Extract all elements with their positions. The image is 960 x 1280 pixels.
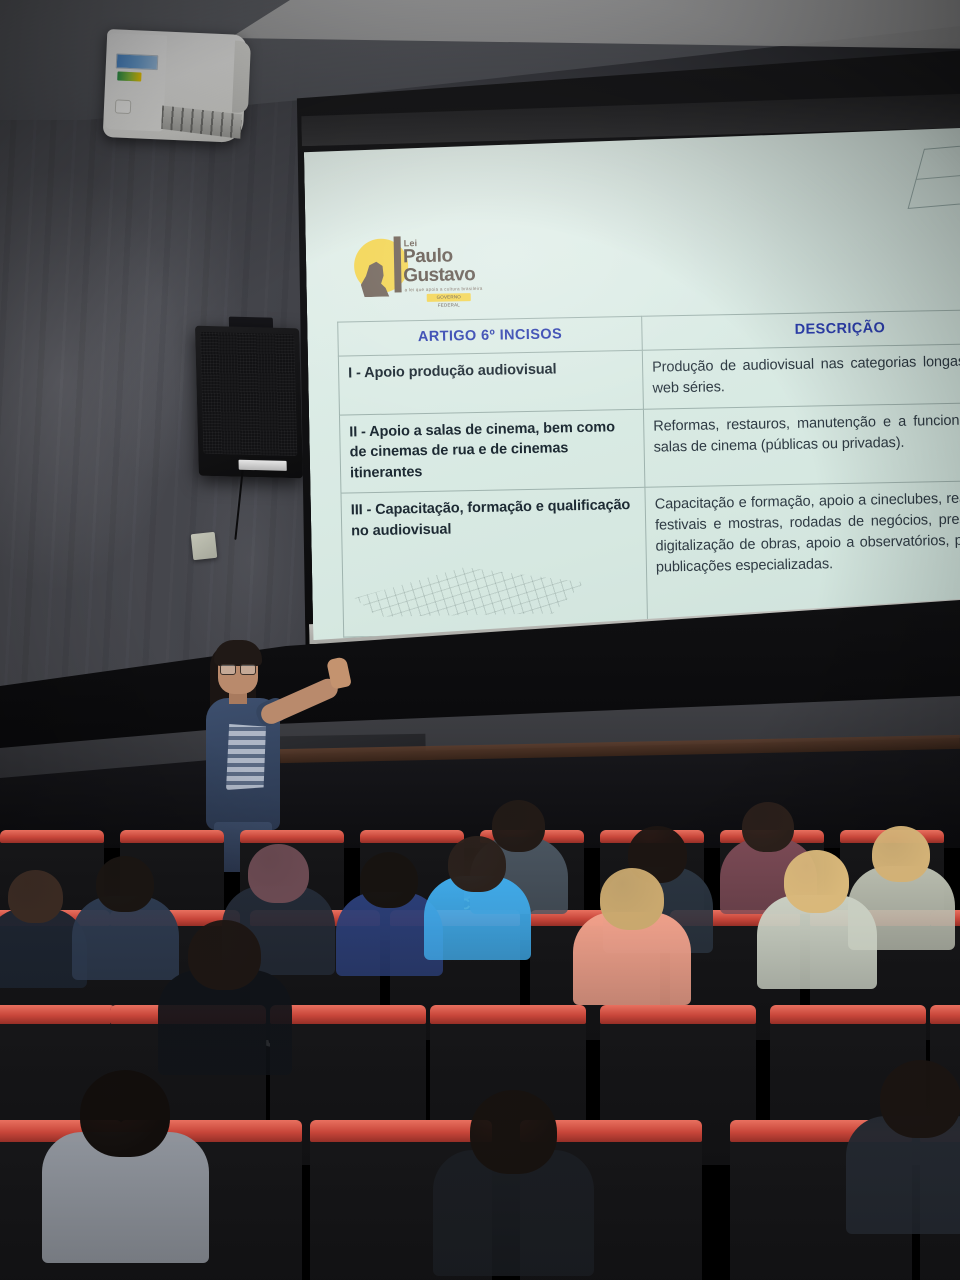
audience-member-head (96, 856, 154, 912)
audience-member-head (188, 920, 261, 990)
table-row: II - Apoio a salas de cinema, bem como d… (339, 401, 960, 493)
seat-headrest (600, 1005, 756, 1024)
audience-member-head (360, 852, 418, 908)
audience-member-head (784, 850, 849, 913)
slide-content: Lei Paulo Gustavo a lei que apoia a cult… (304, 127, 960, 640)
cell-descricao: Produção de audiovisual nas categorias l… (642, 343, 960, 409)
seat-headrest (360, 830, 464, 843)
audience-member-head (448, 836, 506, 892)
audience-member-head (492, 800, 545, 852)
seat-headrest (930, 1005, 960, 1024)
audience-member-head (872, 826, 930, 882)
audience (0, 760, 960, 1280)
seat-headrest (310, 1120, 492, 1142)
projection-screen: Lei Paulo Gustavo a lei que apoia a cult… (276, 49, 960, 672)
presenter-glasses-icon (220, 664, 256, 673)
audience-member-head (8, 870, 63, 923)
cell-descricao: Reformas, restauros, manutenção e a func… (643, 401, 960, 487)
auditorium-photo: Lei Paulo Gustavo a lei que apoia a cult… (0, 0, 960, 1280)
logo-vertical-bar (394, 236, 402, 292)
audience-member-head (80, 1070, 170, 1157)
logo-subtitle: a lei que apoia a cultura brasileira (405, 286, 483, 292)
seat-headrest (270, 1005, 426, 1024)
cell-inciso: II - Apoio a salas de cinema, bem como d… (339, 409, 644, 494)
ac-control-knob (115, 99, 132, 114)
table-header-artigo: ARTIGO 6º INCISOS (338, 316, 643, 356)
audience-member-head (600, 868, 664, 930)
logo-line-gustavo: Gustavo (403, 266, 475, 285)
seat-headrest (430, 1005, 586, 1024)
cell-inciso: I - Apoio produção audiovisual (338, 350, 643, 415)
seat-headrest (770, 1005, 926, 1024)
lei-paulo-gustavo-logo: Lei Paulo Gustavo a lei que apoia a cult… (354, 235, 475, 303)
audience-member-head (742, 802, 794, 852)
audience-member-head (470, 1090, 557, 1174)
seat-headrest (120, 830, 224, 843)
ac-display-label (116, 53, 159, 70)
ac-energy-label (117, 71, 141, 81)
slide-corner-graphic (908, 143, 960, 209)
speaker-brand-badge (239, 460, 287, 471)
audience-member-head (880, 1060, 960, 1138)
logo-tag: GOVERNO FEDERAL (427, 293, 471, 302)
logo-tag-label: GOVERNO FEDERAL (427, 293, 471, 310)
seat-headrest (0, 830, 104, 843)
presenter-hair-top (214, 640, 262, 666)
ac-side-panel (232, 41, 251, 114)
seat-headrest (240, 830, 344, 843)
table-header-descricao: DESCRIÇÃO (642, 309, 960, 351)
seat-headrest (0, 1005, 116, 1024)
wall-outlet-plate (191, 532, 218, 560)
ac-front-panel (105, 33, 167, 131)
air-conditioner-icon (103, 29, 248, 143)
screen-surface: Lei Paulo Gustavo a lei que apoia a cult… (304, 127, 960, 640)
audience-member-head (248, 844, 309, 903)
